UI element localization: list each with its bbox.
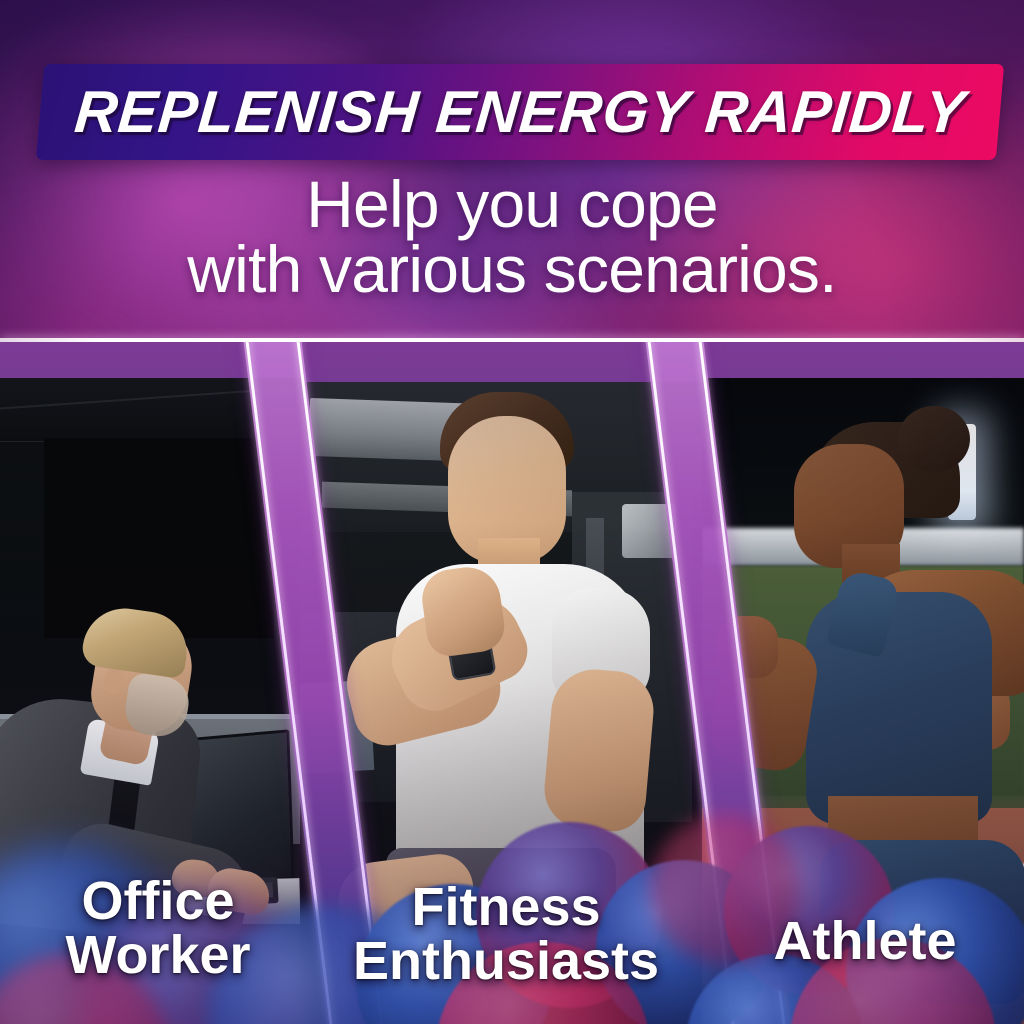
- caption-fitness-enthusiasts: Fitness Enthusiasts: [318, 880, 694, 988]
- scenario-panels: Office Worker Fitness Enthusiasts Athlet…: [0, 342, 1024, 1024]
- headline-ribbon: REPLENISH ENERGY RAPIDLY: [40, 64, 1000, 160]
- caption-athlete: Athlete: [722, 914, 1008, 968]
- headline-text: REPLENISH ENERGY RAPIDLY: [36, 64, 1004, 160]
- subheadline-line-2: with various scenarios.: [0, 237, 1024, 302]
- subheadline: Help you cope with various scenarios.: [0, 172, 1024, 301]
- athlete-hair-bun: [898, 406, 970, 472]
- office-wall: [44, 438, 274, 638]
- subheadline-line-1: Help you cope: [306, 167, 718, 241]
- caption-office-worker: Office Worker: [28, 874, 288, 982]
- promo-poster: REPLENISH ENERGY RAPIDLY Help you cope w…: [0, 0, 1024, 1024]
- header-section: REPLENISH ENERGY RAPIDLY Help you cope w…: [0, 0, 1024, 340]
- fitness-man-arm-right: [541, 666, 657, 834]
